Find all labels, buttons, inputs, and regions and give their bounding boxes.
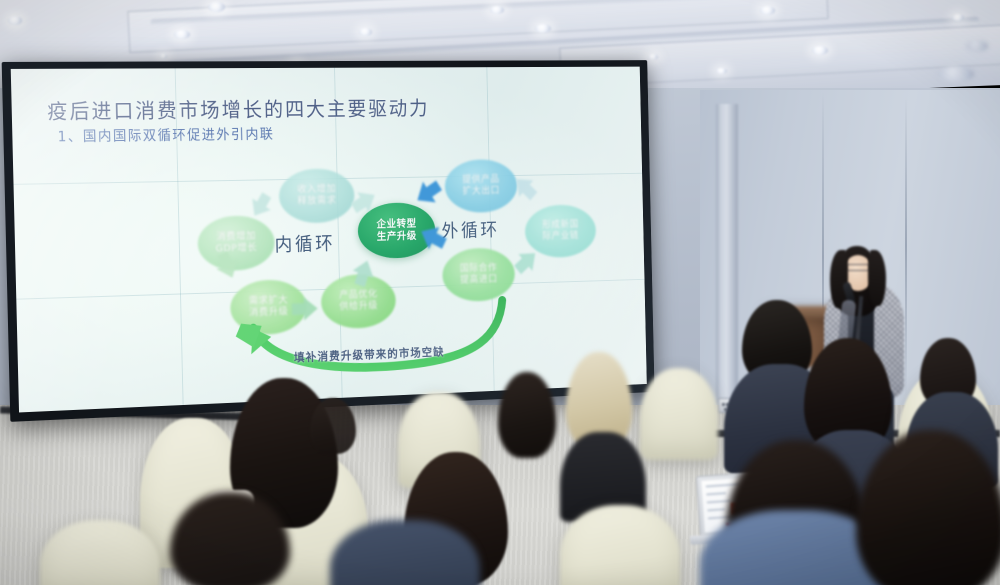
screen-bezel: 疫后进口消费市场增长的四大主要驱动力 1、国内国际双循环促进外引内联 内循环 外…: [2, 60, 655, 422]
ceiling-downlight: [812, 46, 828, 55]
ceiling-downlight: [8, 16, 22, 25]
ceiling-speaker: [938, 66, 974, 82]
ceiling-downlight: [174, 30, 190, 39]
ceiling-downlight: [716, 68, 727, 74]
wall-pillar: [716, 104, 738, 404]
ceiling-downlight: [208, 2, 225, 12]
slide-display[interactable]: 疫后进口消费市场增长的四大主要驱动力 1、国内国际双循环促进外引内联 内循环 外…: [11, 67, 647, 413]
ceiling-downlight: [760, 6, 775, 15]
ceiling-downlight: [160, 54, 167, 59]
audience-head: [310, 398, 356, 454]
ceiling-speaker: [966, 40, 988, 52]
ceiling-downlight: [359, 28, 372, 36]
slide-content: 疫后进口消费市场增长的四大主要驱动力 1、国内国际双循环促进外引内联 内循环 外…: [11, 67, 647, 413]
ceiling-downlight: [648, 54, 658, 60]
ceiling-downlight: [535, 24, 551, 33]
led-video-wall[interactable]: 疫后进口消费市场增长的四大主要驱动力 1、国内国际双循环促进外引内联 内循环 外…: [2, 60, 655, 422]
wall-seam: [905, 96, 907, 396]
presentation-scene: 疫后进口消费市场增长的四大主要驱动力 1、国内国际双循环促进外引内联 内循环 外…: [0, 0, 1000, 585]
ceiling-downlight: [952, 14, 964, 21]
ceiling-downlight: [490, 6, 504, 14]
chair[interactable]: [640, 368, 718, 460]
